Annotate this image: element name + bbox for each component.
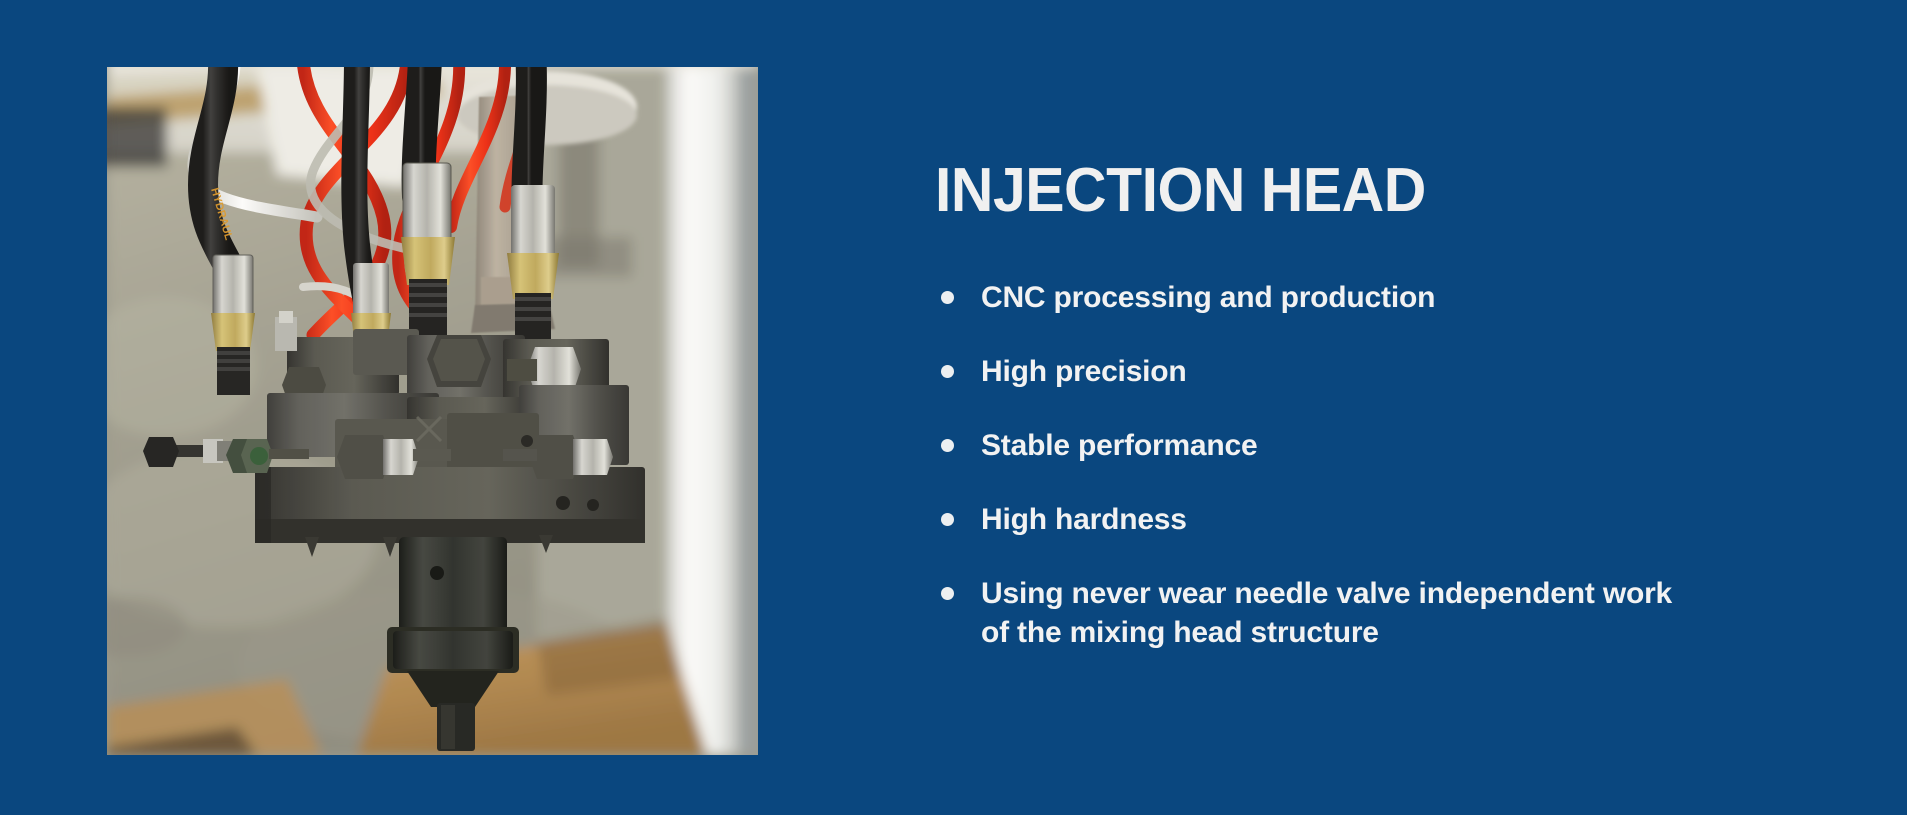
bullet-dot-icon: [941, 291, 954, 304]
feature-list: CNC processing and production High preci…: [935, 278, 1835, 653]
feature-text: Using never wear needle valve independen…: [981, 574, 1681, 654]
list-item: Using never wear needle valve independen…: [935, 574, 1835, 654]
list-item: High hardness: [935, 500, 1835, 540]
bullet-dot-icon: [941, 513, 954, 526]
page-title: INJECTION HEAD: [935, 160, 1790, 222]
feature-text: High precision: [981, 352, 1681, 392]
list-item: High precision: [935, 352, 1835, 392]
bullet-dot-icon: [941, 587, 954, 600]
product-photo: HYDRAUL: [107, 67, 758, 755]
bullet-dot-icon: [941, 439, 954, 452]
feature-text: High hardness: [981, 500, 1681, 540]
feature-text: Stable performance: [981, 426, 1681, 466]
feature-text: CNC processing and production: [981, 278, 1681, 318]
injection-head-illustration: HYDRAUL: [107, 67, 758, 755]
bullet-dot-icon: [941, 365, 954, 378]
list-item: Stable performance: [935, 426, 1835, 466]
content-panel: INJECTION HEAD CNC processing and produc…: [935, 160, 1835, 653]
list-item: CNC processing and production: [935, 278, 1835, 318]
slide-root: HYDRAUL: [0, 0, 1907, 815]
